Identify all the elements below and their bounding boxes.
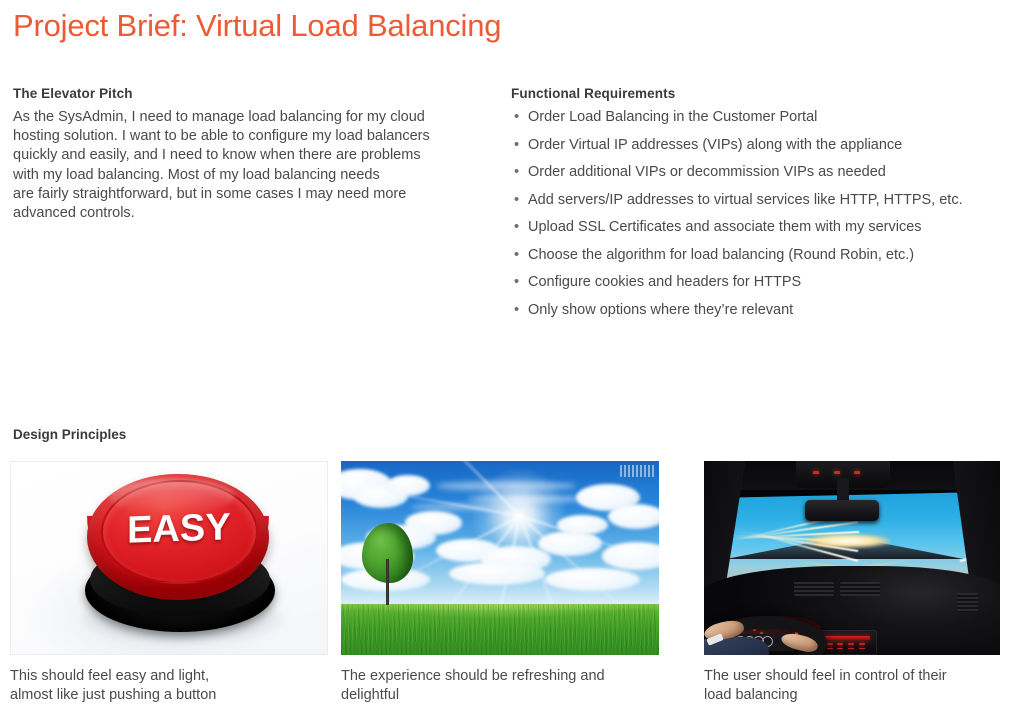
pitch-line: As the SysAdmin, I need to manage load b…	[13, 108, 483, 127]
design-principles-heading: Design Principles	[13, 427, 126, 442]
console-led	[854, 471, 860, 474]
stereo-button	[837, 648, 843, 650]
cloud	[449, 562, 544, 585]
bullet-icon: •	[514, 246, 519, 264]
air-vent	[840, 582, 880, 596]
functional-requirements-heading: Functional Requirements	[511, 86, 1011, 101]
list-item-label: Add servers/IP addresses to virtual serv…	[528, 192, 963, 208]
list-item-label: Order additional VIPs or decommission VI…	[528, 164, 886, 180]
cloud	[557, 515, 608, 534]
cirrus-wisp	[436, 481, 576, 491]
list-item: •Order Virtual IP addresses (VIPs) along…	[511, 136, 1011, 154]
cloud	[386, 475, 431, 496]
list-item: •Upload SSL Certificates and associate t…	[511, 218, 1011, 236]
console-led	[834, 471, 840, 474]
list-item-label: Choose the algorithm for load balancing …	[528, 247, 914, 263]
card-caption: The user should feel in control of their…	[704, 667, 1000, 705]
elevator-pitch-body: As the SysAdmin, I need to manage load b…	[13, 108, 483, 223]
console-led	[813, 471, 819, 474]
air-vent	[794, 582, 834, 596]
list-item: •Order Load Balancing in the Customer Po…	[511, 108, 1011, 126]
design-principle-card-2: The experience should be refreshing and …	[341, 461, 659, 705]
bullet-icon: •	[514, 108, 519, 126]
vanishing-point-glow	[806, 534, 890, 548]
list-item: •Choose the algorithm for load balancing…	[511, 246, 1011, 264]
list-item-label: Order Load Balancing in the Customer Por…	[528, 109, 817, 125]
list-item: •Configure cookies and headers for HTTPS	[511, 273, 1011, 291]
list-item-label: Only show options where they’re relevant	[528, 302, 793, 318]
pitch-line: are fairly straightforward, but in some …	[13, 185, 483, 204]
pitch-line: quickly and easily, and I need to know w…	[13, 146, 483, 165]
card-caption: The experience should be refreshing and …	[341, 667, 659, 705]
pitch-line: hosting solution. I want to be able to c…	[13, 127, 483, 146]
bullet-icon: •	[514, 136, 519, 154]
design-principles-cards: EASY This should feel easy and light, al…	[10, 461, 1010, 716]
caption-line: The experience should be refreshing and	[341, 667, 659, 686]
list-item: •Only show options where they’re relevan…	[511, 301, 1011, 319]
air-vent	[957, 593, 979, 613]
easy-button-image: EASY	[10, 461, 328, 655]
stereo-button	[859, 648, 865, 650]
cloud	[602, 542, 659, 569]
watermark-icon	[620, 465, 654, 477]
stereo-button	[848, 648, 854, 650]
grass-field	[341, 604, 659, 655]
list-item-label: Upload SSL Certificates and associate th…	[528, 219, 922, 235]
field-image	[341, 461, 659, 655]
bullet-icon: •	[514, 273, 519, 291]
functional-requirements-section: Functional Requirements •Order Load Bala…	[511, 86, 1011, 328]
elevator-pitch-section: The Elevator Pitch As the SysAdmin, I ne…	[13, 86, 483, 223]
pitch-line: with my load balancing. Most of my load …	[13, 166, 483, 185]
tree-trunk	[386, 559, 389, 605]
easy-label: EASY	[103, 505, 255, 553]
list-item: •Add servers/IP addresses to virtual ser…	[511, 191, 1011, 209]
stereo-button	[827, 648, 833, 650]
driving-car-photo	[704, 461, 1000, 655]
elevator-pitch-heading: The Elevator Pitch	[13, 86, 483, 101]
caption-line: delightful	[341, 686, 659, 705]
stereo-button	[827, 643, 833, 645]
cloud	[538, 531, 602, 556]
requirements-list: •Order Load Balancing in the Customer Po…	[511, 108, 1011, 319]
caption-line: load balancing	[704, 686, 1000, 705]
bullet-icon: •	[514, 218, 519, 236]
bullet-icon: •	[514, 163, 519, 181]
bullet-icon: •	[514, 301, 519, 319]
list-item-label: Configure cookies and headers for HTTPS	[528, 274, 801, 290]
list-item: •Order additional VIPs or decommission V…	[511, 163, 1011, 181]
design-principle-card-1: EASY This should feel easy and light, al…	[10, 461, 328, 705]
caption-line: This should feel easy and light,	[10, 667, 328, 686]
cloud	[545, 568, 640, 591]
easy-button-photo: EASY	[11, 462, 327, 654]
cirrus-wisp	[468, 495, 582, 502]
dashboard	[704, 566, 1000, 655]
page-title: Project Brief: Virtual Load Balancing	[13, 8, 501, 44]
cloud	[608, 504, 659, 529]
rearview-mirror	[805, 500, 879, 521]
stereo-button	[859, 643, 865, 645]
list-item-label: Order Virtual IP addresses (VIPs) along …	[528, 137, 902, 153]
stereo-button	[837, 643, 843, 645]
design-principle-card-3: The user should feel in control of their…	[704, 461, 1000, 705]
bullet-icon: •	[514, 191, 519, 209]
stereo-button	[848, 643, 854, 645]
card-caption: This should feel easy and light, almost …	[10, 667, 328, 705]
cirrus-wisp	[411, 504, 506, 510]
pitch-line: advanced controls.	[13, 204, 483, 223]
caption-line: The user should feel in control of their	[704, 667, 1000, 686]
slide-canvas: Project Brief: Virtual Load Balancing Th…	[0, 0, 1020, 724]
sunny-field-photo	[341, 461, 659, 655]
caption-line: almost like just pushing a button	[10, 686, 328, 705]
car-image	[704, 461, 1000, 655]
